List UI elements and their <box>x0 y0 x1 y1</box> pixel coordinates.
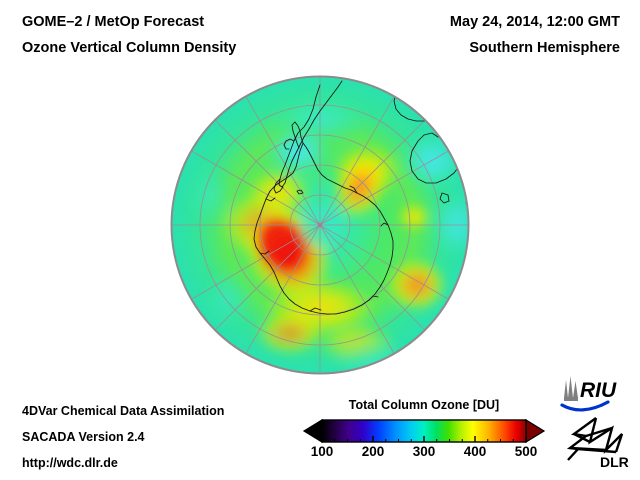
riu-logo-text: RIU <box>580 379 617 402</box>
footer-method: 4DVar Chemical Data Assimilation <box>22 405 224 418</box>
footer-line-2: SACADA Version 2.4 <box>22 431 145 444</box>
ozone-forecast-figure: GOME–2 / MetOp Forecast Ozone Vertical C… <box>0 0 640 480</box>
footer-line-3: http://wdc.dlr.de <box>22 457 118 470</box>
institution-logos: RIU DLR <box>556 372 638 468</box>
colorbar-extend-high <box>526 420 544 442</box>
riu-logo: RIU <box>562 376 617 410</box>
header-region: Southern Hemisphere <box>469 40 620 56</box>
colorbar-tick-100: 100 <box>311 444 334 459</box>
colorbar-gradient <box>300 418 548 444</box>
page-title: Ozone Vertical Column Density <box>22 40 236 56</box>
south-pole-marker <box>318 223 321 226</box>
dlr-logo-text: DLR <box>600 454 629 468</box>
dlr-logo: DLR <box>568 418 629 468</box>
colorbar: Total Column Ozone [DU] 100 200 300 400 … <box>300 398 548 476</box>
colorbar-title: Total Column Ozone [DU] <box>300 398 548 412</box>
colorbar-tick-500: 500 <box>515 444 538 459</box>
colorbar-tick-400: 400 <box>464 444 487 459</box>
footer-url[interactable]: http://wdc.dlr.de <box>22 457 118 470</box>
header-timestamp: May 24, 2014, 12:00 GMT <box>450 14 620 30</box>
riu-swoosh-icon <box>562 402 608 410</box>
logo-group: RIU DLR <box>556 372 638 468</box>
ozone-anomaly-indian <box>387 258 447 312</box>
colorbar-extend-low <box>304 420 322 442</box>
colorbar-tick-200: 200 <box>362 444 385 459</box>
riu-tower-icon <box>564 376 578 401</box>
footer-line-1: 4DVar Chemical Data Assimilation <box>22 405 224 418</box>
colorbar-tick-labels: 100 200 300 400 500 <box>300 444 548 464</box>
footer-version: SACADA Version 2.4 <box>22 431 145 444</box>
figure-header: GOME–2 / MetOp Forecast Ozone Vertical C… <box>0 0 640 62</box>
ozone-map-globe <box>170 75 470 375</box>
header-title-line1: GOME–2 / MetOp Forecast <box>22 14 204 30</box>
colorbar-tick-300: 300 <box>413 444 436 459</box>
polar-stereographic-map <box>170 75 470 375</box>
